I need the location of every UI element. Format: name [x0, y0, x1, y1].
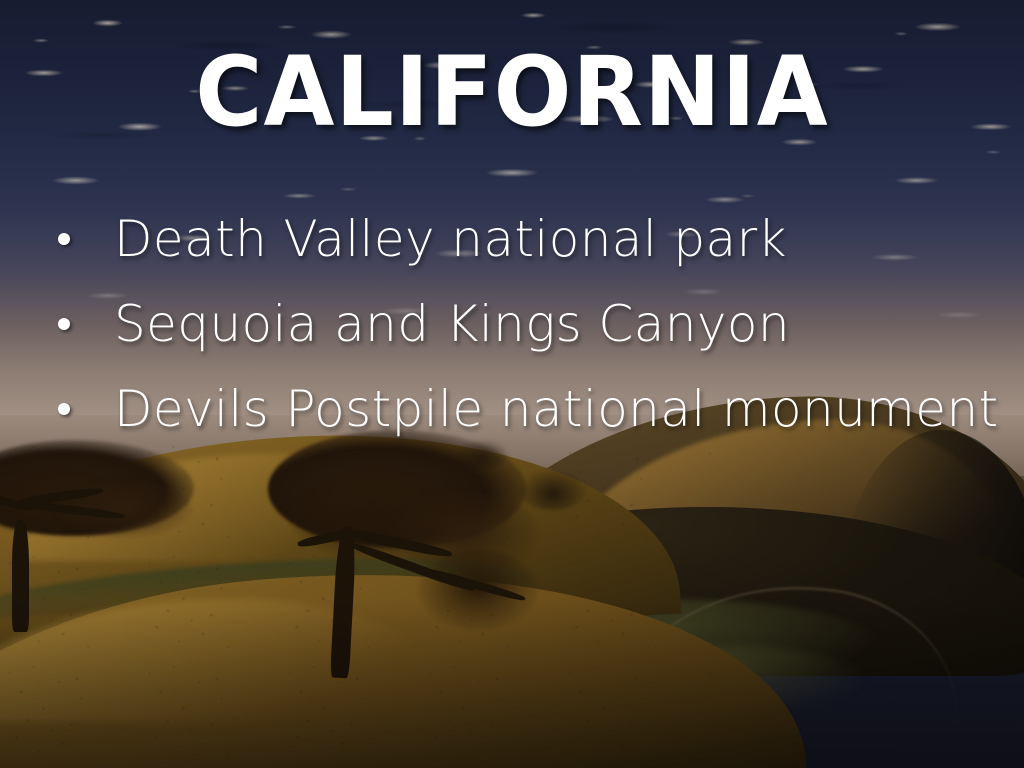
list-item: Death Valley national park: [58, 196, 1010, 281]
slide-content: CALIFORNIA Death Valley national park Se…: [0, 0, 1024, 768]
presentation-slide: CALIFORNIA Death Valley national park Se…: [0, 0, 1024, 768]
bullet-list: Death Valley national park Sequoia and K…: [58, 196, 1010, 451]
slide-title: CALIFORNIA: [0, 44, 1024, 140]
bullet-dot-icon: [58, 403, 70, 415]
list-item-label: Devils Postpile national monument: [114, 381, 999, 437]
list-item: Devils Postpile national monument: [58, 366, 1010, 451]
bullet-dot-icon: [58, 233, 70, 245]
list-item-label: Death Valley national park: [114, 211, 787, 267]
list-item-label: Sequoia and Kings Canyon: [114, 296, 790, 352]
bullet-dot-icon: [58, 318, 70, 330]
list-item: Sequoia and Kings Canyon: [58, 281, 1010, 366]
